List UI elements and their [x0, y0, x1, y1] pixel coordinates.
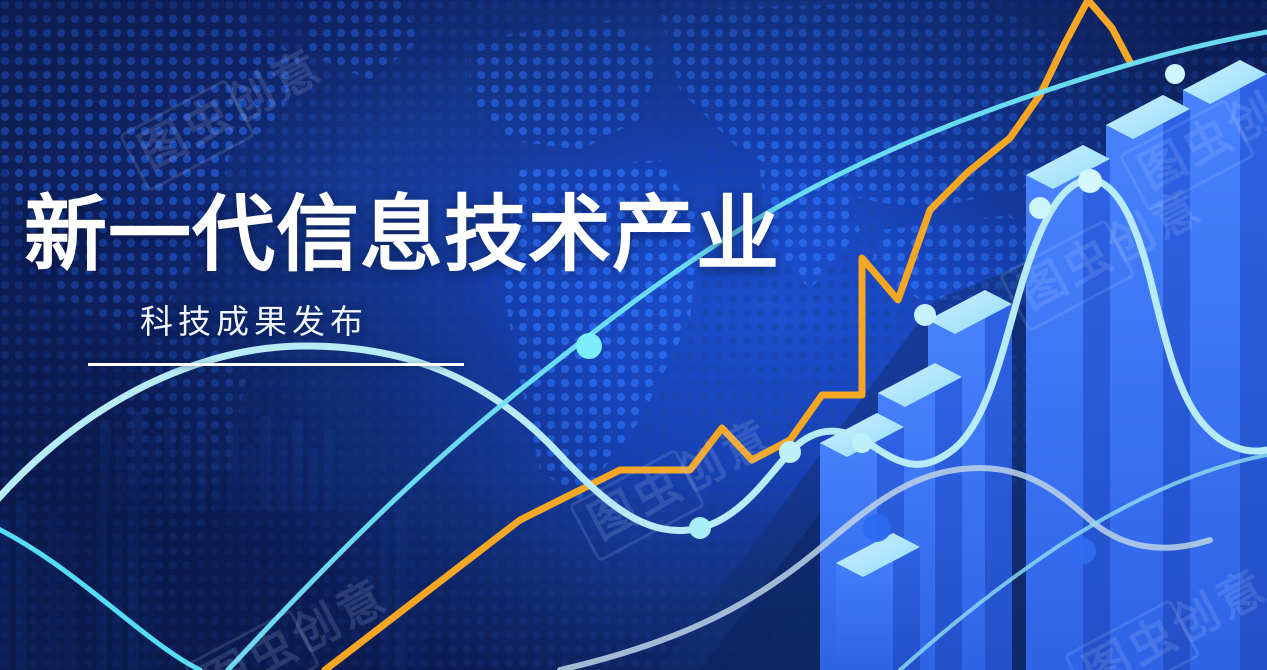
marker-point [852, 433, 872, 453]
poster-canvas: 新一代信息技术产业 科技成果发布 图虫创意 图虫创意 图虫创意 图虫创意 图虫创… [0, 0, 1267, 670]
marker-point [1078, 169, 1102, 193]
trend-line-orange-segment-2 [1088, 0, 1130, 62]
marker-dot-flat [1070, 538, 1096, 564]
curve-cyan-bright-rise [0, 520, 200, 670]
marker-point [1029, 197, 1051, 219]
marker-point [1165, 64, 1185, 84]
title-block: 新一代信息技术产业 科技成果发布 [0, 190, 880, 366]
title-divider [88, 363, 464, 366]
marker-dot-flat [863, 514, 891, 542]
page-title: 新一代信息技术产业 [0, 190, 880, 280]
marker-point [779, 441, 801, 463]
page-subtitle: 科技成果发布 [0, 280, 880, 342]
marker-point [689, 517, 711, 539]
bar-3d-7 [1183, 60, 1267, 670]
marker-point [914, 304, 936, 326]
